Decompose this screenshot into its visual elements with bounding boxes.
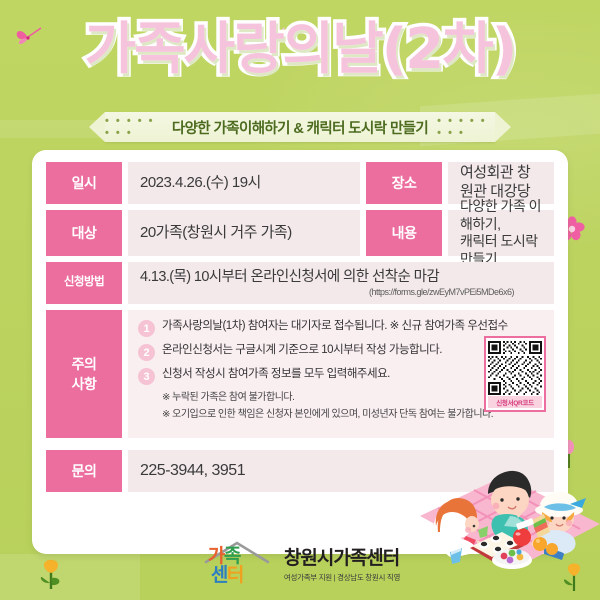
application-main-text: 4.13.(목) 10시부터 온라인신청서에 의한 선착순 마감 — [140, 268, 542, 286]
notice-body: 1 가족사랑의날(1차) 참여자는 대기자로 접수됩니다. ※ 신규 참여가족 … — [128, 310, 554, 438]
label-application-method: 신청방법 — [46, 262, 122, 304]
poster-title-wrap: 가족사랑의날(2차) — [0, 22, 600, 78]
label-venue: 장소 — [366, 162, 442, 204]
note-text: 신청서 작성시 참여가족 정보를 모두 입력해주세요. — [162, 367, 390, 382]
table-row: 신청방법 4.13.(목) 10시부터 온라인신청서에 의한 선착순 마감 (h… — [46, 262, 554, 304]
poster-canvas: 가족사랑의날(2차) • • • • • • • • 다양한 가족이해하기 & … — [0, 0, 600, 600]
label-notice: 주의 사항 — [46, 310, 122, 438]
note-number: 2 — [138, 344, 155, 361]
poster-title: 가족사랑의날(2차) — [85, 22, 516, 78]
logo-char-4: 터 — [227, 565, 243, 586]
label-contact: 문의 — [46, 450, 122, 492]
list-item: 1 가족사랑의날(1차) 참여자는 대기자로 접수됩니다. ※ 신규 참여가족 … — [138, 319, 544, 337]
label-notice-line1: 주의 — [72, 356, 97, 372]
note-text: 온라인신청서는 구글시계 기준으로 10시부터 작성 가능합니다. — [162, 343, 442, 358]
organization-subtitle: 여성가족부 지원 | 경상남도 창원시 직영 — [284, 572, 400, 583]
ribbon-dots-right: • • • • • • • • — [437, 115, 495, 139]
subtitle-text: 다양한 가족이해하기 & 캐릭터 도시락 만들기 — [172, 117, 428, 138]
logo-char-3: 센 — [211, 565, 227, 586]
value-content-line1: 다양한 가족 이해하기, — [460, 198, 542, 233]
label-content: 내용 — [366, 210, 442, 256]
table-row-notes: 주의 사항 1 가족사랑의날(1차) 참여자는 대기자로 접수됩니다. ※ 신규… — [46, 310, 554, 438]
qr-code-caption: 신청서QR코드 — [488, 396, 542, 408]
note-number: 1 — [138, 320, 155, 337]
label-audience: 대상 — [46, 210, 122, 256]
label-notice-line2: 사항 — [72, 376, 97, 392]
value-audience: 20가족(창원시 거주 가족) — [128, 210, 360, 256]
value-content: 다양한 가족 이해하기, 캐릭터 도시락 만들기 — [448, 210, 554, 256]
footer-text-block: 창원시가족센터 여성가족부 지원 | 경상남도 창원시 직영 — [284, 543, 400, 583]
value-datetime: 2023.4.26.(수) 19시 — [128, 162, 360, 204]
qr-code-box[interactable]: 신청서QR코드 — [484, 336, 546, 412]
note-number: 3 — [138, 368, 155, 385]
footer-logo: 가족 센터 창원시가족센터 여성가족부 지원 | 경상남도 창원시 직영 — [0, 538, 600, 588]
label-datetime: 일시 — [46, 162, 122, 204]
value-application-method: 4.13.(목) 10시부터 온라인신청서에 의한 선착순 마감 (https:… — [128, 262, 554, 304]
table-row: 대상 20가족(창원시 거주 가족) 내용 다양한 가족 이해하기, 캐릭터 도… — [46, 210, 554, 256]
application-form-url[interactable]: (https://forms.gle/zwEyM7vPEi5MDe6x6) — [140, 287, 542, 298]
organization-name: 창원시가족센터 — [284, 543, 400, 570]
qr-code-icon[interactable] — [488, 340, 542, 396]
family-center-logo-mark: 가족 센터 — [200, 538, 274, 588]
subtitle-ribbon: • • • • • • • • 다양한 가족이해하기 & 캐릭터 도시락 만들기… — [105, 112, 495, 142]
note-text: 가족사랑의날(1차) 참여자는 대기자로 접수됩니다. ※ 신규 참여가족 우선… — [162, 319, 508, 334]
logo-korean-text: 가족 센터 — [208, 548, 268, 585]
ribbon-dots-left: • • • • • • • • — [105, 115, 163, 139]
